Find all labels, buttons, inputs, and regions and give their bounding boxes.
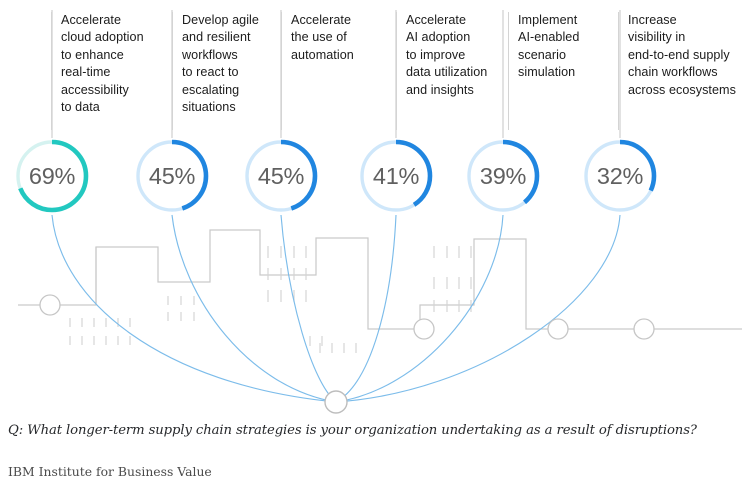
- label-column-5: Implement AI-enabled scenario simulation: [508, 12, 610, 130]
- donut-gauge-1: 69%: [13, 137, 91, 215]
- label-text-2: Develop agile and resilient workflows to…: [182, 12, 277, 116]
- donut-gauge-3: 45%: [242, 137, 320, 215]
- donut-value-4: 41%: [357, 137, 435, 215]
- donut-gauge-6: 32%: [581, 137, 659, 215]
- donut-value-1: 69%: [13, 137, 91, 215]
- donut-gauge-5: 39%: [464, 137, 542, 215]
- convergence-node: [325, 391, 347, 413]
- converging-curves: [52, 215, 620, 402]
- label-column-2: Develop agile and resilient workflows to…: [172, 12, 277, 130]
- label-text-5: Implement AI-enabled scenario simulation: [518, 12, 610, 82]
- label-column-3: Accelerate the use of automation: [281, 12, 391, 130]
- label-text-1: Accelerate cloud adoption to enhance rea…: [61, 12, 163, 116]
- building-windows: [70, 246, 471, 353]
- donut-gauge-4: 41%: [357, 137, 435, 215]
- ground-nodes: [40, 295, 654, 339]
- donut-value-3: 45%: [242, 137, 320, 215]
- donut-gauge-2: 45%: [133, 137, 211, 215]
- label-column-4: Accelerate AI adoption to improve data u…: [396, 12, 506, 130]
- city-skyline: [18, 230, 742, 329]
- label-text-4: Accelerate AI adoption to improve data u…: [406, 12, 506, 99]
- label-text-6: Increase visibility in end-to-end supply…: [628, 12, 746, 99]
- donut-value-2: 45%: [133, 137, 211, 215]
- infographic-canvas: Accelerate cloud adoption to enhance rea…: [0, 0, 750, 500]
- question-caption: Q: What longer-term supply chain strateg…: [8, 423, 697, 438]
- donut-value-5: 39%: [464, 137, 542, 215]
- label-column-1: Accelerate cloud adoption to enhance rea…: [51, 12, 163, 130]
- label-text-3: Accelerate the use of automation: [291, 12, 391, 64]
- donut-value-6: 32%: [581, 137, 659, 215]
- source-footer: IBM Institute for Business Value: [8, 464, 212, 479]
- label-column-6: Increase visibility in end-to-end supply…: [618, 12, 746, 130]
